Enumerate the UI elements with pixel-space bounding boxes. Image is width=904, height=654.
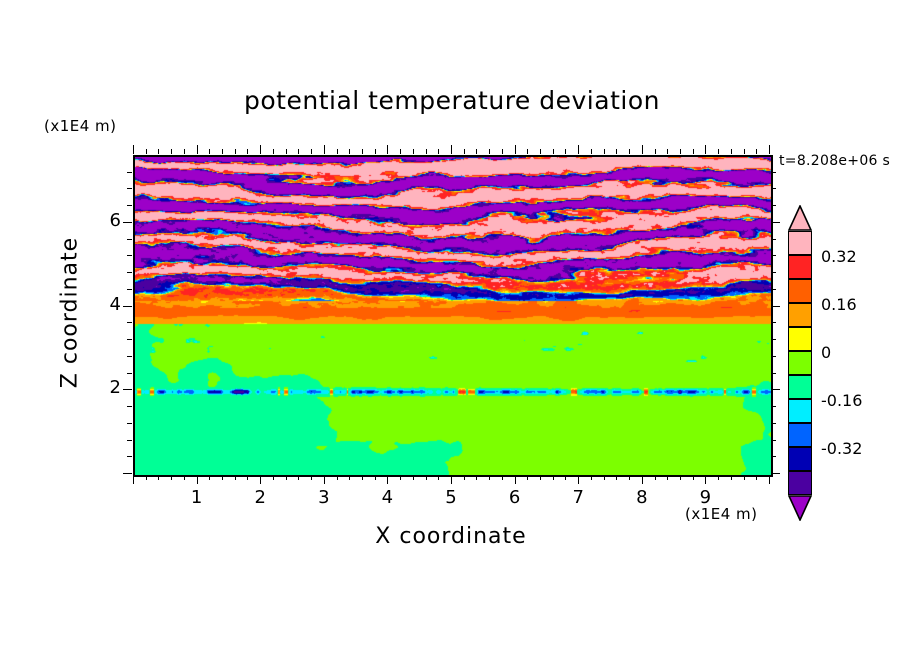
tick-mark [771,188,776,189]
tick-mark [655,475,656,480]
tick-mark [451,145,452,154]
colorbar-band [788,399,812,423]
x-tick-label: 1 [182,487,212,508]
tick-mark [387,475,388,484]
tick-mark [756,475,757,480]
tick-mark [604,475,605,480]
tick-mark [123,473,132,474]
tick-mark [349,475,350,480]
tick-mark [771,389,780,390]
tick-mark [771,440,776,441]
tick-mark [744,475,745,480]
tick-mark [260,475,261,484]
tick-mark [127,322,132,323]
colorbar-tick-label: 0.32 [821,247,857,266]
tick-mark [515,475,516,484]
tick-mark [769,475,770,484]
colorbar-over-arrow [788,205,812,231]
tick-mark [286,149,287,154]
tick-mark [127,406,132,407]
colorbar-band [788,231,812,255]
x-tick-label: 2 [245,487,275,508]
tick-mark [209,149,210,154]
tick-mark [476,149,477,154]
tick-mark [235,475,236,480]
tick-mark [375,475,376,480]
tick-mark [127,172,132,173]
contour-plot-area [133,155,773,477]
x-tick-label: 8 [627,487,657,508]
tick-mark [273,149,274,154]
tick-mark [324,475,325,484]
tick-mark [578,475,579,484]
tick-mark [502,149,503,154]
tick-mark [604,149,605,154]
tick-mark [400,475,401,480]
tick-mark [680,149,681,154]
tick-mark [235,149,236,154]
tick-mark [771,322,776,323]
tick-mark [744,149,745,154]
x-tick-label: 9 [690,487,720,508]
tick-mark [693,475,694,480]
tick-mark [298,475,299,480]
tick-mark [771,373,776,374]
tick-mark [667,149,668,154]
tick-mark [489,149,490,154]
tick-mark [655,149,656,154]
tick-mark [197,145,198,154]
tick-mark [197,475,198,484]
tick-mark [438,475,439,480]
x-tick-label: 6 [500,487,530,508]
tick-mark [489,475,490,480]
colorbar-band [788,327,812,351]
tick-mark [771,239,776,240]
tick-mark [311,149,312,154]
tick-mark [553,149,554,154]
tick-mark [324,145,325,154]
tick-mark [642,145,643,154]
tick-mark [680,475,681,480]
tick-mark [591,475,592,480]
tick-mark [127,188,132,189]
tick-mark [540,475,541,480]
x-axis-title: X coordinate [133,524,769,549]
tick-mark [171,149,172,154]
tick-mark [464,149,465,154]
tick-mark [127,373,132,374]
tick-mark [400,149,401,154]
tick-mark [209,475,210,480]
tick-mark [123,222,132,223]
tick-mark [247,475,248,480]
colorbar-under-arrow [788,495,812,521]
y-tick-label: 2 [97,377,121,398]
tick-mark [771,339,776,340]
tick-mark [771,222,780,223]
tick-mark [476,475,477,480]
x-tick-label: 5 [436,487,466,508]
tick-mark [718,149,719,154]
tick-mark [771,356,776,357]
tick-mark [616,475,617,480]
tick-mark [616,149,617,154]
tick-mark [705,145,706,154]
tick-mark [127,289,132,290]
tick-mark [629,475,630,480]
tick-mark [693,149,694,154]
tick-mark [527,149,528,154]
tick-mark [127,239,132,240]
tick-mark [591,149,592,154]
tick-mark [413,149,414,154]
tick-mark [438,149,439,154]
tick-mark [273,475,274,480]
tick-mark [184,149,185,154]
tick-mark [540,149,541,154]
tick-mark [731,149,732,154]
tick-mark [127,255,132,256]
tick-mark [337,475,338,480]
tick-mark [731,475,732,480]
tick-mark [565,475,566,480]
tick-mark [413,475,414,480]
time-annotation: t=8.208e+06 s [779,153,890,169]
colorbar-band [788,351,812,375]
tick-mark [718,475,719,480]
tick-mark [127,339,132,340]
colorbar-band [788,471,812,495]
tick-mark [771,205,776,206]
tick-mark [527,475,528,480]
tick-mark [127,205,132,206]
tick-mark [771,172,776,173]
tick-mark [771,289,776,290]
page-title: potential temperature deviation [0,86,904,115]
tick-mark [515,145,516,154]
colorbar-band [788,423,812,447]
tick-mark [123,306,132,307]
colorbar-band [788,375,812,399]
tick-mark [133,145,134,154]
tick-mark [127,456,132,457]
tick-mark [642,475,643,484]
tick-mark [771,456,776,457]
colorbar: 0.320.160-0.16-0.32 [785,205,815,515]
tick-mark [771,255,776,256]
tick-mark [298,149,299,154]
colorbar-tick-label: -0.32 [821,439,862,458]
tick-mark [667,475,668,480]
tick-mark [464,475,465,480]
y-axis-title: Z coordinate [58,203,83,423]
tick-mark [502,475,503,480]
tick-mark [362,475,363,480]
tick-mark [127,272,132,273]
tick-mark [286,475,287,480]
tick-mark [771,272,776,273]
tick-mark [771,423,776,424]
tick-mark [222,475,223,480]
colorbar-band [788,255,812,279]
tick-mark [146,475,147,480]
tick-mark [705,475,706,484]
colorbar-tick-label: 0.16 [821,295,857,314]
tick-mark [133,475,134,484]
tick-mark [629,149,630,154]
colorbar-tick-label: 0 [821,343,831,362]
tick-mark [260,145,261,154]
tick-mark [451,475,452,484]
x-tick-label: 7 [563,487,593,508]
tick-mark [553,475,554,480]
tick-mark [247,149,248,154]
tick-mark [158,475,159,480]
tick-mark [349,149,350,154]
tick-mark [158,149,159,154]
y-axis-unit-label: (x1E4 m) [44,117,117,135]
y-tick-label: 6 [97,210,121,231]
tick-mark [769,145,770,154]
tick-mark [756,149,757,154]
tick-mark [578,145,579,154]
tick-mark [771,473,780,474]
tick-mark [337,149,338,154]
tick-mark [426,149,427,154]
tick-mark [311,475,312,480]
tick-mark [184,475,185,480]
tick-mark [146,149,147,154]
colorbar-band [788,279,812,303]
tick-mark [127,440,132,441]
tick-mark [222,149,223,154]
tick-mark [362,149,363,154]
x-tick-label: 3 [309,487,339,508]
tick-mark [565,149,566,154]
tick-mark [171,475,172,480]
y-tick-label: 4 [97,294,121,315]
x-tick-label: 4 [372,487,402,508]
temperature-deviation-field [135,157,771,475]
tick-mark [387,145,388,154]
tick-mark [426,475,427,480]
colorbar-band [788,303,812,327]
tick-mark [123,389,132,390]
colorbar-band [788,447,812,471]
tick-mark [771,306,780,307]
tick-mark [127,423,132,424]
tick-mark [127,356,132,357]
colorbar-tick-label: -0.16 [821,391,862,410]
tick-mark [771,406,776,407]
tick-mark [375,149,376,154]
